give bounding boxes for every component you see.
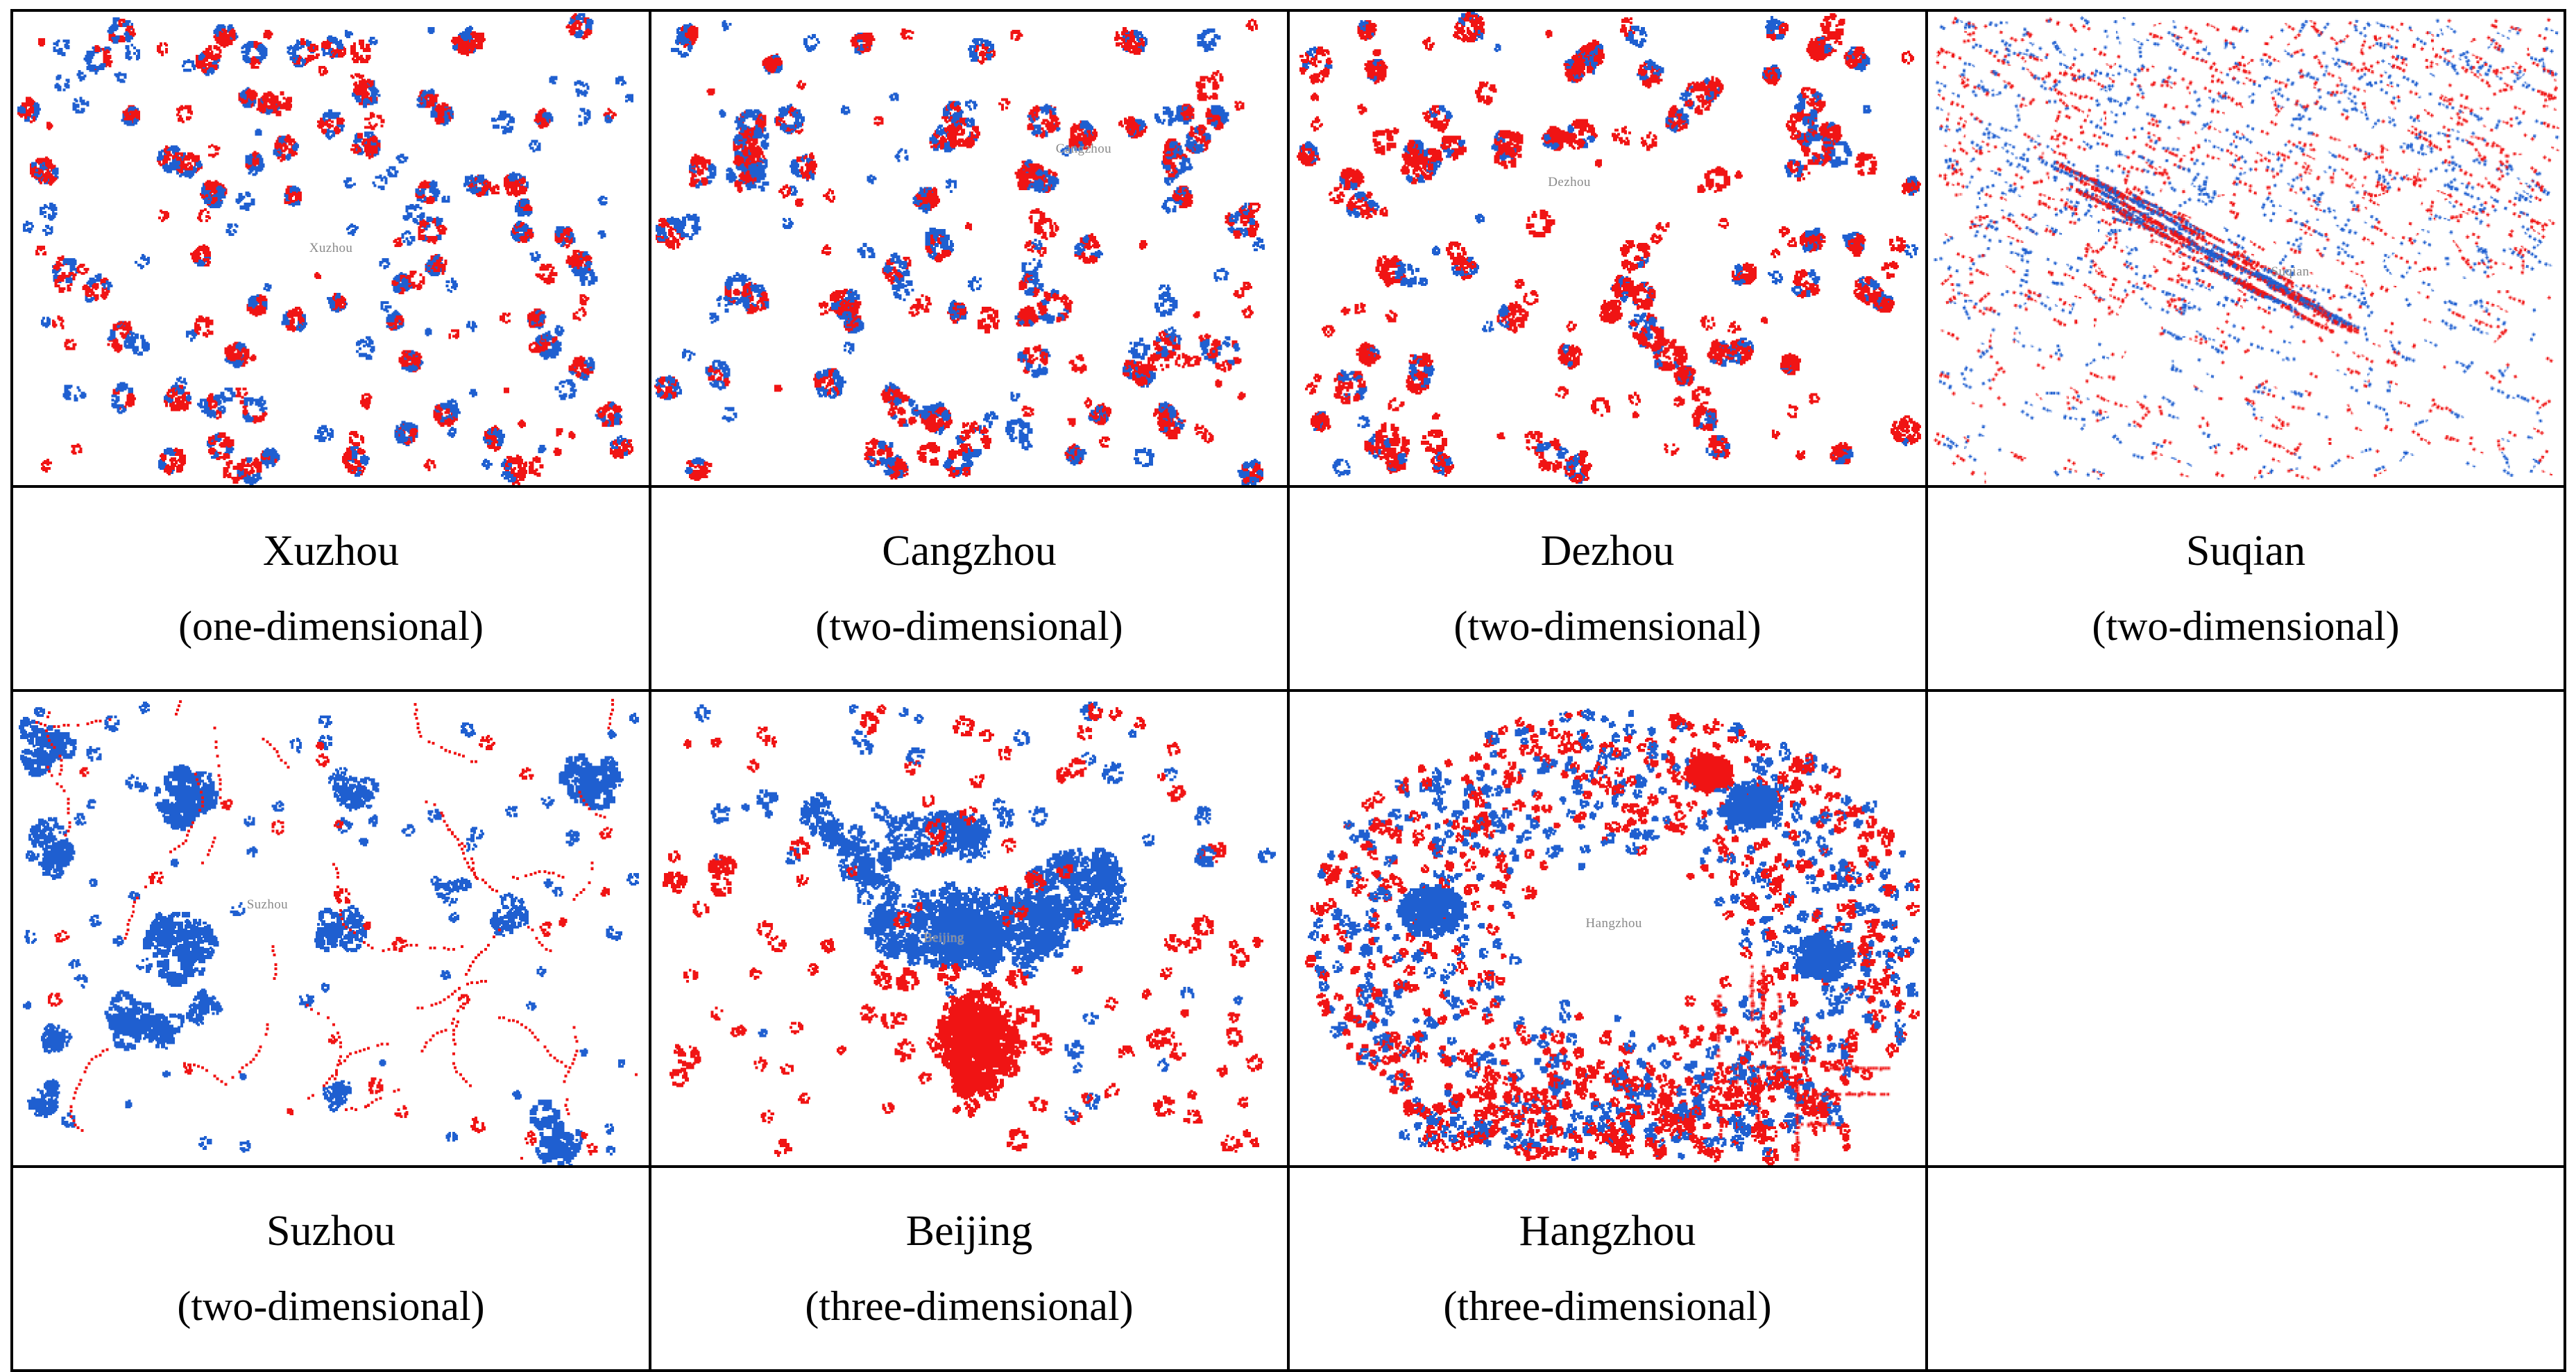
city-dimension: (two-dimensional) [2092, 604, 2399, 648]
city-name: Dezhou [1541, 529, 1675, 574]
map-canvas-wrapper: Cangzhou [651, 12, 1287, 485]
caption-cell-suzhou: Suzhou (two-dimensional) [12, 1167, 650, 1371]
map-image-suqian [1928, 12, 2564, 485]
map-canvas-wrapper: Hangzhou [1290, 692, 1925, 1165]
caption-block: Beijing (three-dimensional) [651, 1168, 1287, 1369]
caption-cell-beijing: Beijing (three-dimensional) [650, 1167, 1288, 1371]
map-cell-dezhou[interactable]: Dezhou [1288, 10, 1927, 486]
map-canvas-wrapper-empty [1928, 692, 2564, 1165]
map-cell-suqian[interactable]: Suqian [1927, 10, 2565, 486]
map-canvas-wrapper: Dezhou [1290, 12, 1925, 485]
city-name: Suqian [2186, 529, 2305, 574]
map-row-1: Xuzhou Cangzhou Dezhou [12, 10, 2565, 486]
city-dimension: (two-dimensional) [1453, 604, 1761, 648]
map-canvas-wrapper: Suzhou [13, 692, 649, 1165]
caption-block: Suqian (two-dimensional) [1928, 488, 2564, 689]
caption-row-1: Xuzhou (one-dimensional) Cangzhou (two-d… [12, 486, 2565, 691]
city-name: Hangzhou [1519, 1209, 1696, 1254]
caption-cell-empty [1927, 1167, 2565, 1371]
figure-sheet: Xuzhou Cangzhou Dezhou [0, 0, 2576, 1371]
map-image-hangzhou [1290, 692, 1925, 1165]
caption-block: Suzhou (two-dimensional) [13, 1168, 649, 1369]
map-image-beijing [651, 692, 1287, 1165]
map-image-cangzhou [651, 12, 1287, 485]
map-cell-hangzhou[interactable]: Hangzhou [1288, 691, 1927, 1167]
caption-cell-cangzhou: Cangzhou (two-dimensional) [650, 486, 1288, 691]
caption-block: Cangzhou (two-dimensional) [651, 488, 1287, 689]
caption-block: Hangzhou (three-dimensional) [1290, 1168, 1925, 1369]
city-dimension: (one-dimensional) [178, 604, 484, 648]
caption-row-2: Suzhou (two-dimensional) Beijing (three-… [12, 1167, 2565, 1371]
map-image-suzhou [13, 692, 649, 1165]
map-canvas-wrapper: Beijing [651, 692, 1287, 1165]
map-row-2: Suzhou Beijing Hangzhou [12, 691, 2565, 1167]
map-image-xuzhou [13, 12, 649, 485]
city-dimension: (two-dimensional) [177, 1285, 484, 1328]
caption-cell-dezhou: Dezhou (two-dimensional) [1288, 486, 1927, 691]
caption-block: Xuzhou (one-dimensional) [13, 488, 649, 689]
city-name: Beijing [906, 1209, 1033, 1254]
map-cell-empty [1927, 691, 2565, 1167]
map-canvas-wrapper: Xuzhou [13, 12, 649, 485]
city-dimension: (three-dimensional) [1443, 1285, 1771, 1328]
caption-cell-hangzhou: Hangzhou (three-dimensional) [1288, 1167, 1927, 1371]
map-cell-cangzhou[interactable]: Cangzhou [650, 10, 1288, 486]
city-name: Suzhou [266, 1209, 395, 1254]
map-cell-beijing[interactable]: Beijing [650, 691, 1288, 1167]
caption-block: Dezhou (two-dimensional) [1290, 488, 1925, 689]
caption-cell-suqian: Suqian (two-dimensional) [1927, 486, 2565, 691]
city-name: Cangzhou [882, 529, 1056, 574]
map-grid-table: Xuzhou Cangzhou Dezhou [10, 9, 2566, 1372]
map-cell-xuzhou[interactable]: Xuzhou [12, 10, 650, 486]
city-name: Xuzhou [263, 529, 399, 574]
city-dimension: (three-dimensional) [805, 1285, 1133, 1328]
caption-cell-xuzhou: Xuzhou (one-dimensional) [12, 486, 650, 691]
map-image-dezhou [1290, 12, 1925, 485]
map-canvas-wrapper: Suqian [1928, 12, 2564, 485]
map-cell-suzhou[interactable]: Suzhou [12, 691, 650, 1167]
city-dimension: (two-dimensional) [815, 604, 1123, 648]
